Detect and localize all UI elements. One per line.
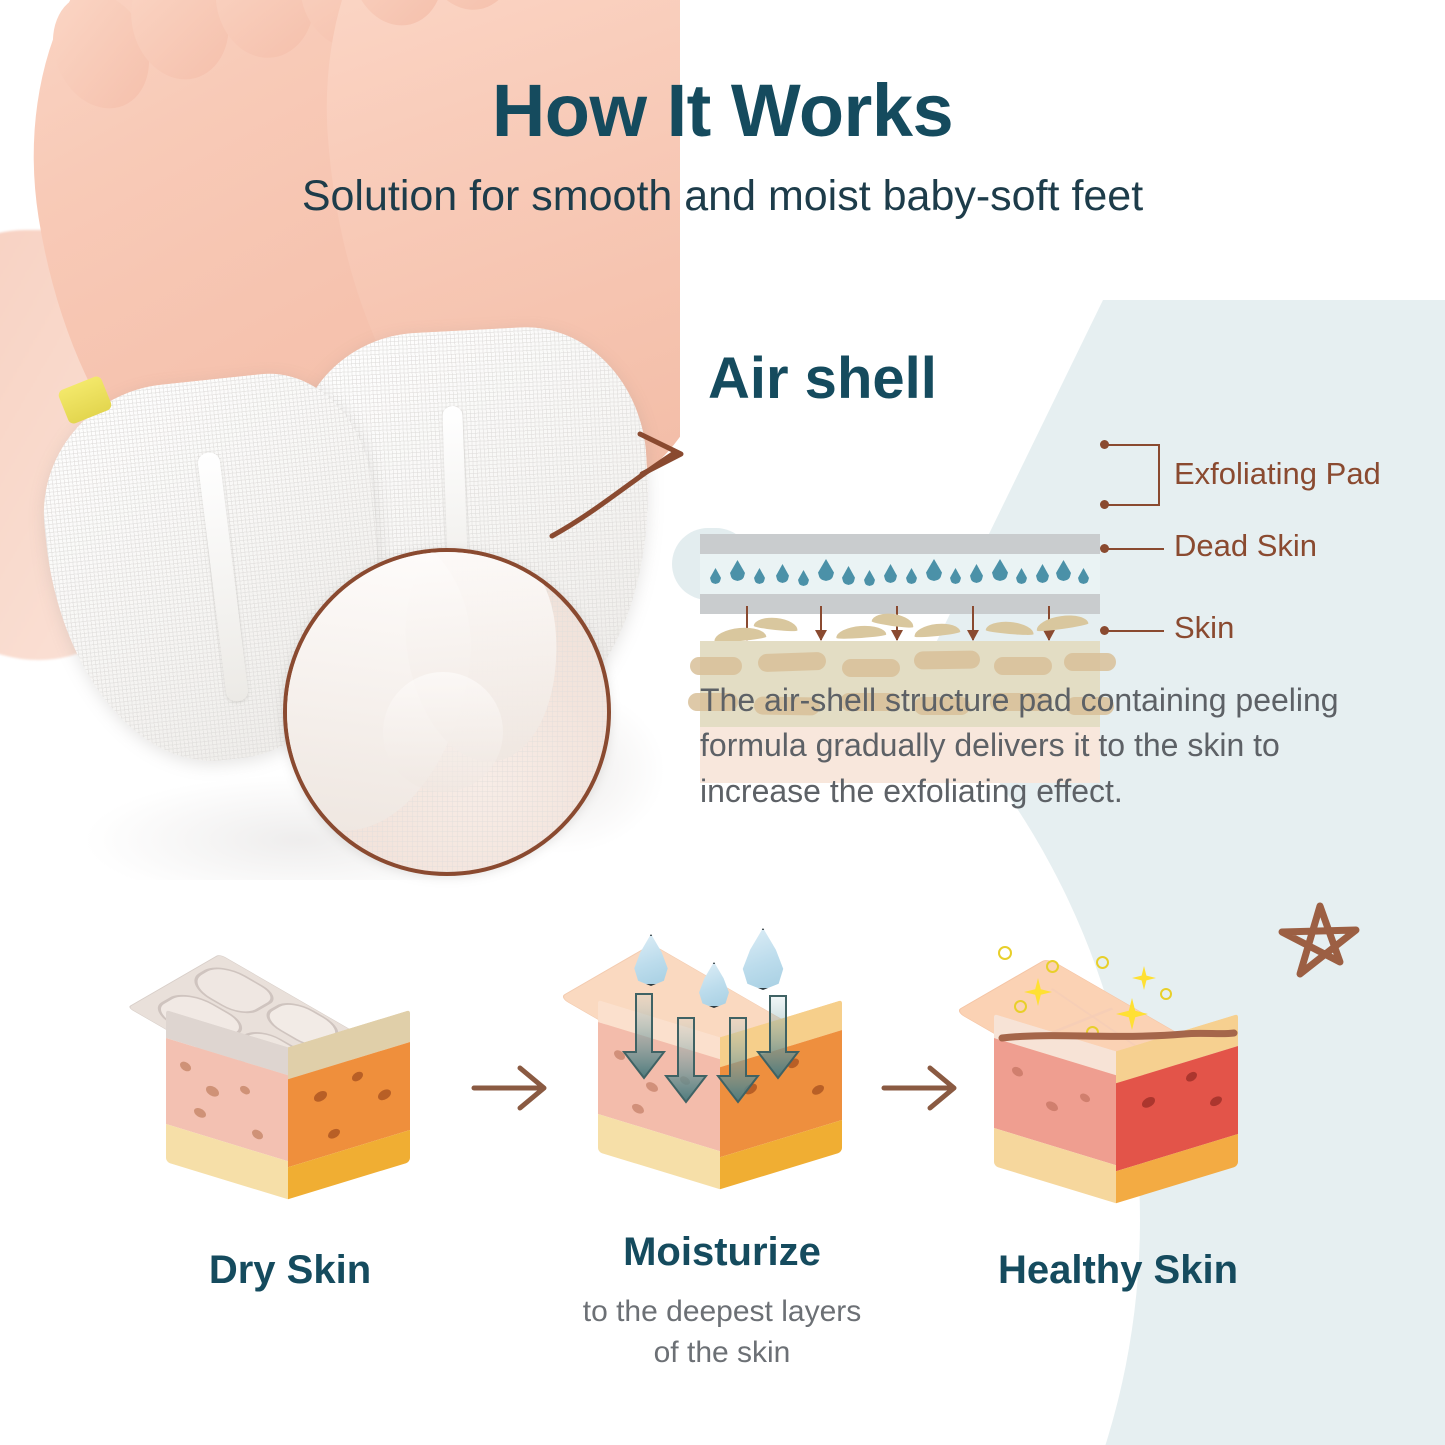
pointer-arrow-icon [548,408,748,558]
airshell-description: The air-shell structure pad containing p… [700,678,1400,814]
callout-label-skin: Skin [1174,610,1234,646]
underline-doodle-icon [994,1026,1244,1046]
magnifier-circle [283,548,611,876]
callout-line [1104,548,1164,550]
moisturized-skin-cube-icon [592,938,842,1188]
step-dry-skin: Dry Skin [160,948,420,1208]
healthy-skin-cube-icon [988,952,1238,1202]
pad-layer-bottom [700,594,1100,614]
step-arrow-icon [470,1058,565,1118]
page-title: How It Works [0,68,1445,153]
callout-line [1104,630,1164,632]
step-healthy-skin: Healthy Skin [988,952,1248,1212]
water-drop-icon [740,928,786,990]
sparkle-ring-icon [1096,956,1109,969]
callout-line [1104,444,1160,446]
sparkle-ring-icon [1014,1000,1027,1013]
dead-skin-flake [986,620,1035,636]
cracked-skin-cube-icon [160,948,410,1198]
penetration-arrow-icon [820,606,822,640]
diagram-callouts: Exfoliating Pad Dead Skin Skin [1100,432,1445,662]
pad-layer-top [700,534,1100,554]
callout-line [1104,504,1160,506]
callout-label-dead-skin: Dead Skin [1174,528,1317,564]
sparkle-icon [1132,966,1156,990]
sparkle-ring-icon [1160,988,1172,1000]
absorption-arrows-icon [608,992,828,1167]
dead-skin-flake [836,624,887,639]
step-label-healthy-skin: Healthy Skin [988,1248,1248,1293]
water-drop-icon [632,934,670,986]
step-label-dry-skin: Dry Skin [160,1248,420,1293]
airshell-diagram [700,446,1100,668]
step-moisturize: Moisturize to the deepest layers of the … [592,938,852,1198]
process-steps: Dry Skin [0,930,1445,1350]
water-drop-icon [697,962,731,1008]
callout-bracket [1158,444,1160,506]
pad-fold [383,672,503,792]
airshell-section: Air shell [700,345,1100,668]
step-arrow-icon [880,1058,975,1118]
step-sublabel-moisturize: to the deepest layers of the skin [557,1292,887,1373]
step-label-moisturize: Moisturize [592,1230,852,1275]
sparkle-ring-icon [1046,960,1059,973]
airshell-title: Air shell [708,345,1100,412]
infographic-root: How It Works Solution for smooth and moi… [0,0,1445,1445]
page-subtitle: Solution for smooth and moist baby-soft … [0,172,1445,221]
dead-skin-flake [1035,612,1088,632]
star-doodle-icon [1256,896,1386,1016]
penetration-arrow-icon [972,606,974,640]
dead-skin-flake [913,622,960,639]
callout-label-exfoliating-pad: Exfoliating Pad [1174,456,1381,492]
sparkle-ring-icon [998,946,1012,960]
